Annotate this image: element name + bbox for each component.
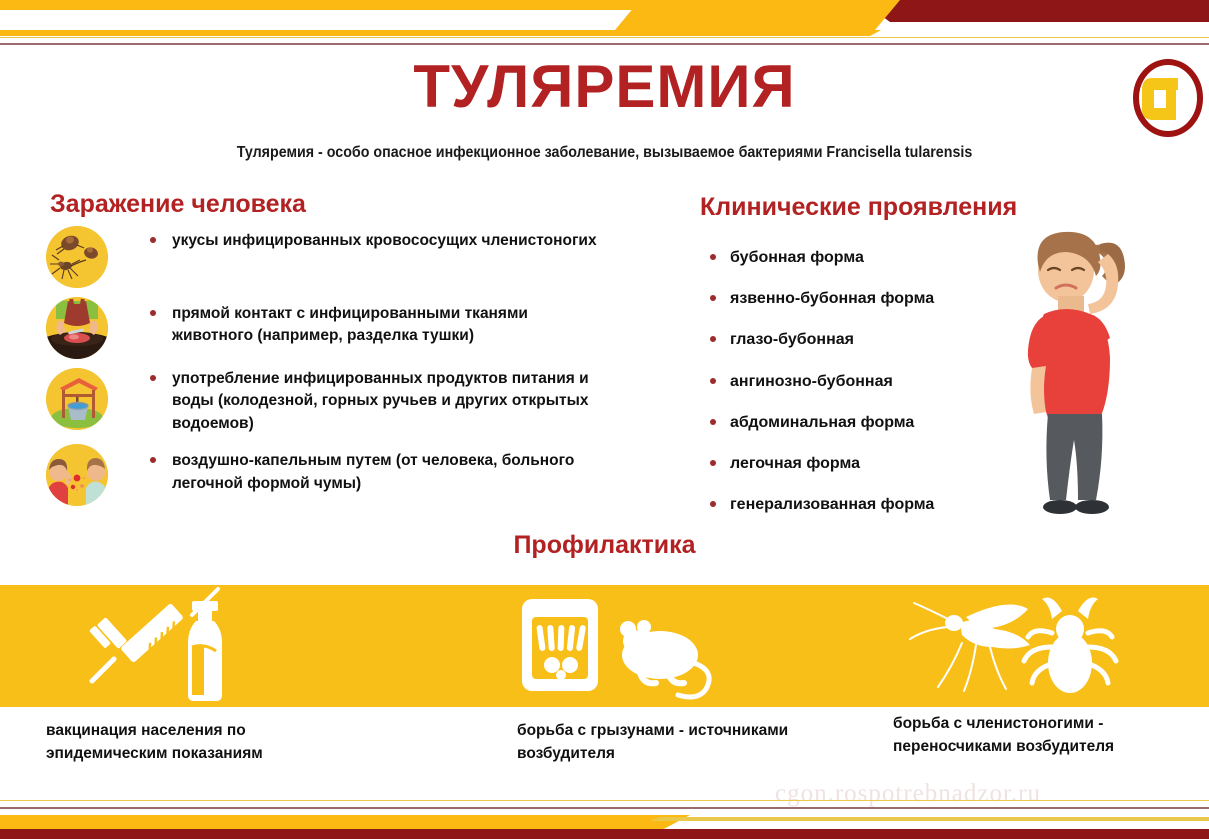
well-water-icon: [46, 368, 108, 430]
list-item-label: укусы инфицированных кровососущих членис…: [150, 230, 597, 252]
page-title: ТУЛЯРЕМИЯ: [0, 55, 1209, 118]
bottom-decorative-banner: [0, 795, 1209, 839]
mousetrap-icon: [522, 599, 598, 691]
list-item-label: употребление инфицированных продуктов пи…: [150, 368, 602, 435]
list-item: прямой контакт с инфицированными тканями…: [46, 297, 666, 359]
prevention-caption-arthropods: борьба с членистоногими - переносчиками …: [893, 712, 1193, 759]
tick-mosquito-icon: [46, 226, 108, 288]
list-item: ангинозно-бубонная: [706, 372, 1036, 391]
list-item: абдоминальная форма: [706, 413, 1036, 432]
rodent-control-icons: [510, 585, 730, 707]
top-banner-shapes: [0, 0, 1209, 48]
list-item-label: прямой контакт с инфицированными тканями…: [150, 303, 602, 348]
airborne-cough-icon: [46, 444, 108, 506]
clinical-forms-list: бубонная форма язвенно-бубонная форма гл…: [706, 248, 1036, 536]
top-thin-gold-line: [0, 37, 1209, 38]
mosquito-icon: [910, 603, 1030, 691]
butcher-carcass-icon: [46, 297, 108, 359]
list-item: укусы инфицированных кровососущих членис…: [46, 226, 666, 288]
top-decorative-banner: [0, 0, 1209, 48]
tick-icon: [1024, 598, 1116, 694]
page-subtitle: Туляремия - особо опасное инфекционное з…: [48, 144, 1160, 162]
list-item: язвенно-бубонная форма: [706, 289, 1036, 308]
list-item: генерализованная форма: [706, 495, 1036, 514]
prevention-caption-rodents: борьба с грызунами - источниками возбуди…: [517, 719, 817, 766]
list-item: легочная форма: [706, 454, 1036, 473]
section-heading-prevention: Профилактика: [0, 531, 1209, 560]
top-mauve-line: [0, 43, 1209, 45]
list-item-label: воздушно-капельным путем (от человека, б…: [150, 450, 602, 495]
prevention-caption-vaccination: вакцинация населения по эпидемическим по…: [46, 719, 346, 766]
list-item: употребление инфицированных продуктов пи…: [46, 368, 666, 435]
bottom-thin-gold-line: [0, 800, 1209, 801]
sick-person-illustration: [1004, 218, 1154, 523]
arthropod-control-icons: [900, 585, 1120, 707]
mouse-icon: [620, 620, 709, 697]
section-heading-infection: Заражение человека: [50, 190, 306, 219]
list-item: глазо-бубонная: [706, 330, 1036, 349]
infection-routes-list: укусы инфицированных кровососущих членис…: [46, 226, 666, 515]
section-heading-clinical: Клинические проявления: [700, 193, 1017, 222]
list-item: бубонная форма: [706, 248, 1036, 267]
rospotrebnadzor-logo: [1132, 58, 1204, 138]
bottom-banner-shapes: [0, 811, 1209, 839]
syringe-vaccine-icons: [80, 585, 270, 707]
poster-root: ТУЛЯРЕМИЯ Туляремия - особо опасное инфе…: [0, 0, 1209, 839]
list-item: воздушно-капельным путем (от человека, б…: [46, 444, 666, 506]
bottom-mauve-line: [0, 807, 1209, 809]
